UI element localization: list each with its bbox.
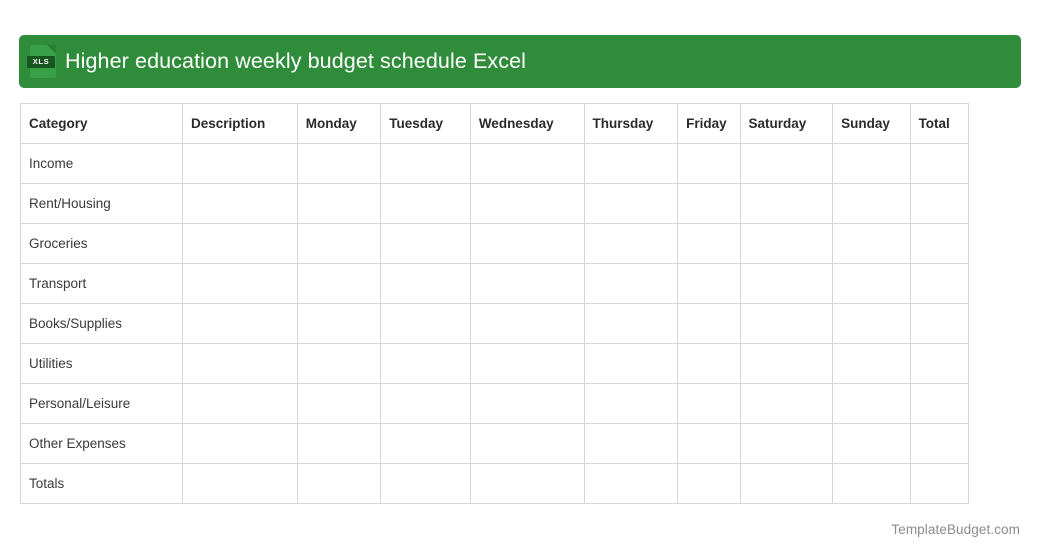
cell-transport-thursday[interactable] <box>584 264 678 304</box>
row-label-other-expenses: Other Expenses <box>21 424 183 464</box>
column-header-saturday: Saturday <box>740 104 833 144</box>
cell-income-total[interactable] <box>910 144 968 184</box>
cell-rent-housing-tuesday[interactable] <box>381 184 471 224</box>
cell-income-tuesday[interactable] <box>381 144 471 184</box>
page-root: XLS Higher education weekly budget sched… <box>0 0 1040 560</box>
cell-totals-sunday[interactable] <box>833 464 910 504</box>
cell-groceries-monday[interactable] <box>297 224 381 264</box>
cell-groceries-total[interactable] <box>910 224 968 264</box>
cell-books-supplies-description[interactable] <box>183 304 298 344</box>
cell-transport-tuesday[interactable] <box>381 264 471 304</box>
cell-income-wednesday[interactable] <box>470 144 584 184</box>
cell-utilities-monday[interactable] <box>297 344 381 384</box>
xls-icon-label: XLS <box>27 56 55 68</box>
row-label-books-supplies: Books/Supplies <box>21 304 183 344</box>
cell-transport-wednesday[interactable] <box>470 264 584 304</box>
cell-books-supplies-sunday[interactable] <box>833 304 910 344</box>
cell-personal-leisure-thursday[interactable] <box>584 384 678 424</box>
table-row: Personal/Leisure <box>21 384 969 424</box>
column-header-sunday: Sunday <box>833 104 910 144</box>
table-row: Utilities <box>21 344 969 384</box>
cell-personal-leisure-wednesday[interactable] <box>470 384 584 424</box>
cell-books-supplies-saturday[interactable] <box>740 304 833 344</box>
cell-transport-description[interactable] <box>183 264 298 304</box>
cell-transport-sunday[interactable] <box>833 264 910 304</box>
cell-groceries-thursday[interactable] <box>584 224 678 264</box>
cell-personal-leisure-friday[interactable] <box>678 384 740 424</box>
row-label-groceries: Groceries <box>21 224 183 264</box>
cell-other-expenses-friday[interactable] <box>678 424 740 464</box>
cell-utilities-description[interactable] <box>183 344 298 384</box>
cell-totals-description[interactable] <box>183 464 298 504</box>
weekly-budget-table: Category Description Monday Tuesday Wedn… <box>20 103 969 504</box>
cell-groceries-wednesday[interactable] <box>470 224 584 264</box>
cell-totals-total[interactable] <box>910 464 968 504</box>
cell-groceries-tuesday[interactable] <box>381 224 471 264</box>
column-header-monday: Monday <box>297 104 381 144</box>
cell-personal-leisure-description[interactable] <box>183 384 298 424</box>
footer-attribution: TemplateBudget.com <box>891 522 1020 537</box>
cell-income-sunday[interactable] <box>833 144 910 184</box>
cell-personal-leisure-tuesday[interactable] <box>381 384 471 424</box>
cell-books-supplies-thursday[interactable] <box>584 304 678 344</box>
cell-transport-total[interactable] <box>910 264 968 304</box>
cell-other-expenses-saturday[interactable] <box>740 424 833 464</box>
table-row: Other Expenses <box>21 424 969 464</box>
cell-groceries-friday[interactable] <box>678 224 740 264</box>
table-row: Books/Supplies <box>21 304 969 344</box>
cell-totals-thursday[interactable] <box>584 464 678 504</box>
cell-utilities-tuesday[interactable] <box>381 344 471 384</box>
table-row: Transport <box>21 264 969 304</box>
row-label-transport: Transport <box>21 264 183 304</box>
cell-books-supplies-monday[interactable] <box>297 304 381 344</box>
cell-transport-friday[interactable] <box>678 264 740 304</box>
table-row: Income <box>21 144 969 184</box>
cell-rent-housing-description[interactable] <box>183 184 298 224</box>
cell-income-friday[interactable] <box>678 144 740 184</box>
cell-rent-housing-thursday[interactable] <box>584 184 678 224</box>
column-header-category: Category <box>21 104 183 144</box>
table-row: Rent/Housing <box>21 184 969 224</box>
cell-other-expenses-thursday[interactable] <box>584 424 678 464</box>
cell-utilities-wednesday[interactable] <box>470 344 584 384</box>
column-header-thursday: Thursday <box>584 104 678 144</box>
cell-utilities-thursday[interactable] <box>584 344 678 384</box>
table-header-row: Category Description Monday Tuesday Wedn… <box>21 104 969 144</box>
cell-other-expenses-tuesday[interactable] <box>381 424 471 464</box>
xls-file-icon: XLS <box>30 45 56 78</box>
cell-totals-tuesday[interactable] <box>381 464 471 504</box>
document-title-bar: XLS Higher education weekly budget sched… <box>19 35 1021 88</box>
cell-rent-housing-monday[interactable] <box>297 184 381 224</box>
cell-personal-leisure-total[interactable] <box>910 384 968 424</box>
cell-rent-housing-total[interactable] <box>910 184 968 224</box>
cell-totals-friday[interactable] <box>678 464 740 504</box>
row-label-income: Income <box>21 144 183 184</box>
cell-other-expenses-wednesday[interactable] <box>470 424 584 464</box>
page-title: Higher education weekly budget schedule … <box>65 49 526 74</box>
row-label-totals: Totals <box>21 464 183 504</box>
cell-income-thursday[interactable] <box>584 144 678 184</box>
cell-income-saturday[interactable] <box>740 144 833 184</box>
cell-utilities-saturday[interactable] <box>740 344 833 384</box>
cell-books-supplies-wednesday[interactable] <box>470 304 584 344</box>
cell-income-monday[interactable] <box>297 144 381 184</box>
table-row: Totals <box>21 464 969 504</box>
column-header-total: Total <box>910 104 968 144</box>
cell-groceries-sunday[interactable] <box>833 224 910 264</box>
cell-transport-saturday[interactable] <box>740 264 833 304</box>
cell-personal-leisure-saturday[interactable] <box>740 384 833 424</box>
column-header-description: Description <box>183 104 298 144</box>
cell-other-expenses-sunday[interactable] <box>833 424 910 464</box>
cell-other-expenses-description[interactable] <box>183 424 298 464</box>
row-label-utilities: Utilities <box>21 344 183 384</box>
cell-rent-housing-saturday[interactable] <box>740 184 833 224</box>
cell-groceries-description[interactable] <box>183 224 298 264</box>
cell-rent-housing-friday[interactable] <box>678 184 740 224</box>
cell-totals-saturday[interactable] <box>740 464 833 504</box>
cell-utilities-sunday[interactable] <box>833 344 910 384</box>
cell-transport-monday[interactable] <box>297 264 381 304</box>
cell-totals-monday[interactable] <box>297 464 381 504</box>
cell-totals-wednesday[interactable] <box>470 464 584 504</box>
cell-books-supplies-total[interactable] <box>910 304 968 344</box>
cell-other-expenses-monday[interactable] <box>297 424 381 464</box>
row-label-personal-leisure: Personal/Leisure <box>21 384 183 424</box>
cell-income-description[interactable] <box>183 144 298 184</box>
cell-books-supplies-tuesday[interactable] <box>381 304 471 344</box>
cell-rent-housing-wednesday[interactable] <box>470 184 584 224</box>
cell-books-supplies-friday[interactable] <box>678 304 740 344</box>
cell-other-expenses-total[interactable] <box>910 424 968 464</box>
cell-utilities-total[interactable] <box>910 344 968 384</box>
table-row: Groceries <box>21 224 969 264</box>
cell-personal-leisure-monday[interactable] <box>297 384 381 424</box>
cell-utilities-friday[interactable] <box>678 344 740 384</box>
cell-personal-leisure-sunday[interactable] <box>833 384 910 424</box>
column-header-wednesday: Wednesday <box>470 104 584 144</box>
column-header-friday: Friday <box>678 104 740 144</box>
column-header-tuesday: Tuesday <box>381 104 471 144</box>
row-label-rent-housing: Rent/Housing <box>21 184 183 224</box>
cell-groceries-saturday[interactable] <box>740 224 833 264</box>
cell-rent-housing-sunday[interactable] <box>833 184 910 224</box>
